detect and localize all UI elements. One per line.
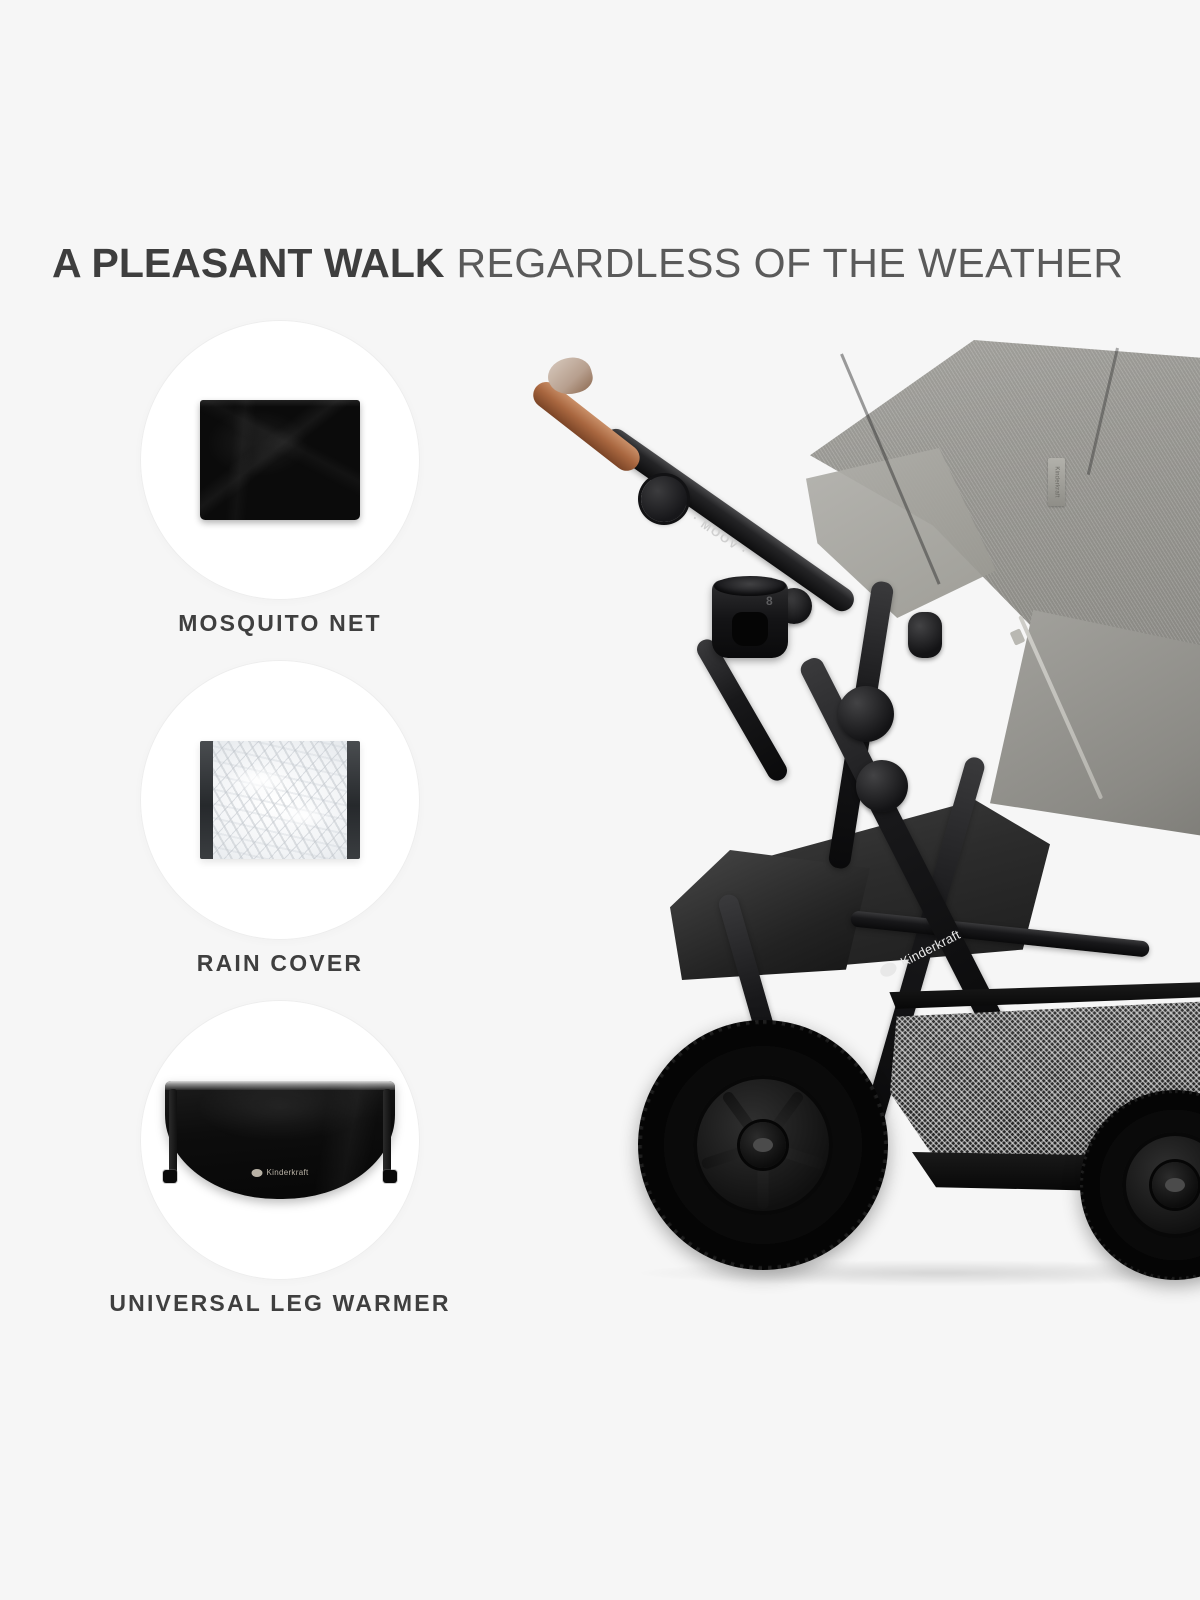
canopy-brand-tag-text: Kinderkraft: [1054, 466, 1060, 497]
page-title-bold: A PLEASANT WALK: [52, 240, 445, 286]
front-wheel: [638, 1020, 888, 1270]
frame-tube-handle-stem: [693, 636, 790, 785]
handlebar-leather-grip: [528, 377, 645, 476]
cup-holder-rim: [714, 576, 786, 596]
accessory-item-rain-cover: RAIN COVER: [0, 660, 560, 1000]
accessory-list: MOSQUITO NET RAIN COVER Kinderkraft UNIV: [0, 320, 560, 1340]
frame-joint-fold: [856, 760, 908, 812]
accessory-image-circle-rain-cover: [140, 660, 420, 940]
product-image-stroller: Kinderkraft Kinderkraft · MOOV · 8: [520, 330, 1200, 1360]
accessory-image-circle-mosquito-net: [140, 320, 420, 600]
kinderkraft-mark-icon: [1165, 1178, 1185, 1192]
rear-wheel-hubcap: [1152, 1162, 1198, 1208]
leg-warmer-strap-left: [169, 1089, 177, 1177]
zipper-pull-icon: [1010, 628, 1026, 645]
kinderkraft-mark-icon: [252, 1169, 263, 1177]
page-title-light: REGARDLESS OF THE WEATHER: [456, 240, 1123, 286]
leg-warmer-brand-logo: Kinderkraft: [252, 1168, 309, 1177]
accessory-label-rain-cover: RAIN COVER: [0, 950, 560, 977]
frame-joint-seat: [908, 612, 942, 658]
canopy-brand-tag: Kinderkraft: [1048, 458, 1065, 506]
accessory-image-circle-leg-warmer: Kinderkraft: [140, 1000, 420, 1280]
cup-holder-slot: [732, 612, 768, 646]
mosquito-net-icon: [200, 400, 360, 520]
accessory-label-mosquito-net: MOSQUITO NET: [0, 610, 560, 637]
accessory-item-mosquito-net: MOSQUITO NET: [0, 320, 560, 660]
kinderkraft-mark-icon: [753, 1138, 773, 1152]
seat-backrest: [990, 610, 1200, 840]
leg-warmer-clip-left: [163, 1170, 177, 1183]
accessory-label-leg-warmer: UNIVERSAL LEG WARMER: [0, 1290, 560, 1317]
front-wheel-rim: [693, 1075, 833, 1215]
front-wheel-hubcap: [740, 1122, 786, 1168]
rain-cover-sheen: [216, 751, 344, 849]
cup-holder-marking: 8: [766, 594, 773, 608]
page-title: A PLEASANT WALK REGARDLESS OF THE WEATHE…: [52, 240, 1124, 287]
leg-warmer-brand-text: Kinderkraft: [267, 1168, 309, 1177]
leg-warmer-icon: Kinderkraft: [165, 1081, 395, 1199]
frame-joint-upper: [838, 686, 894, 742]
kinderkraft-mark-icon: [878, 960, 899, 979]
leg-warmer-strap-right: [383, 1089, 391, 1177]
footrest: [670, 850, 870, 980]
accessory-item-leg-warmer: Kinderkraft UNIVERSAL LEG WARMER: [0, 1000, 560, 1340]
leg-warmer-clip-right: [383, 1170, 397, 1183]
handlebar-adjust-button: [641, 476, 687, 522]
rain-cover-icon: [200, 741, 360, 859]
